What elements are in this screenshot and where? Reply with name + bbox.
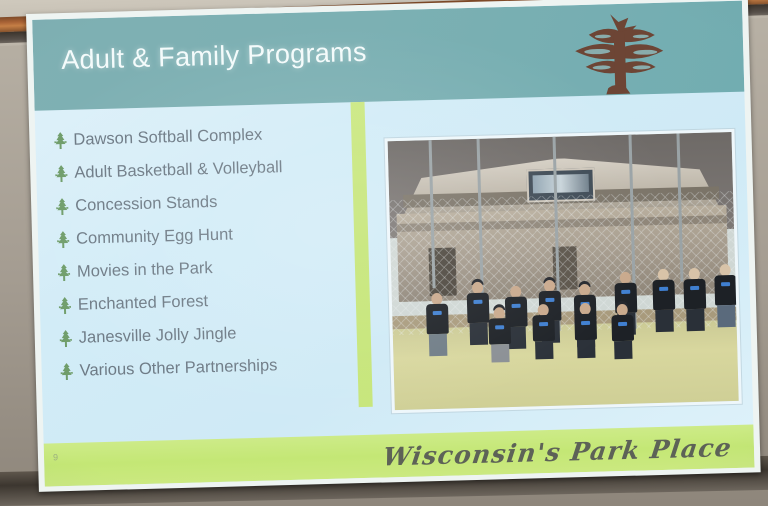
program-list: Dawson Softball Complex Adult Basketball… <box>53 116 360 388</box>
list-item-label: Movies in the Park <box>77 259 213 282</box>
presentation-slide: Adult & Family Programs <box>32 1 754 487</box>
screen-frame: Adult & Family Programs <box>26 0 761 492</box>
tree-logo-icon <box>558 9 672 98</box>
tree-bullet-icon <box>59 363 73 380</box>
tree-bullet-icon <box>55 198 69 215</box>
tree-bullet-icon <box>57 264 71 281</box>
list-item-label: Dawson Softball Complex <box>73 126 262 150</box>
team-photo <box>388 132 739 410</box>
tree-bullet-icon <box>56 231 70 248</box>
list-item-label: Adult Basketball & Volleyball <box>74 158 283 183</box>
list-item-label: Concession Stands <box>75 193 218 216</box>
tree-bullet-icon <box>53 132 67 149</box>
list-item: Various Other Partnerships <box>59 347 360 388</box>
list-item-label: Community Egg Hunt <box>76 225 233 248</box>
tree-bullet-icon <box>59 330 73 347</box>
slide-number: 9 <box>53 452 58 462</box>
tree-bullet-icon <box>54 165 68 182</box>
slide-photo-frame <box>384 129 741 413</box>
list-item-label: Enchanted Forest <box>78 292 209 315</box>
list-item-label: Various Other Partnerships <box>79 356 277 380</box>
projection-screen: Adult & Family Programs <box>26 0 761 492</box>
list-item-label: Janesville Jolly Jingle <box>79 324 237 347</box>
tree-bullet-icon <box>58 297 72 314</box>
photo-press-box-window <box>533 174 589 194</box>
